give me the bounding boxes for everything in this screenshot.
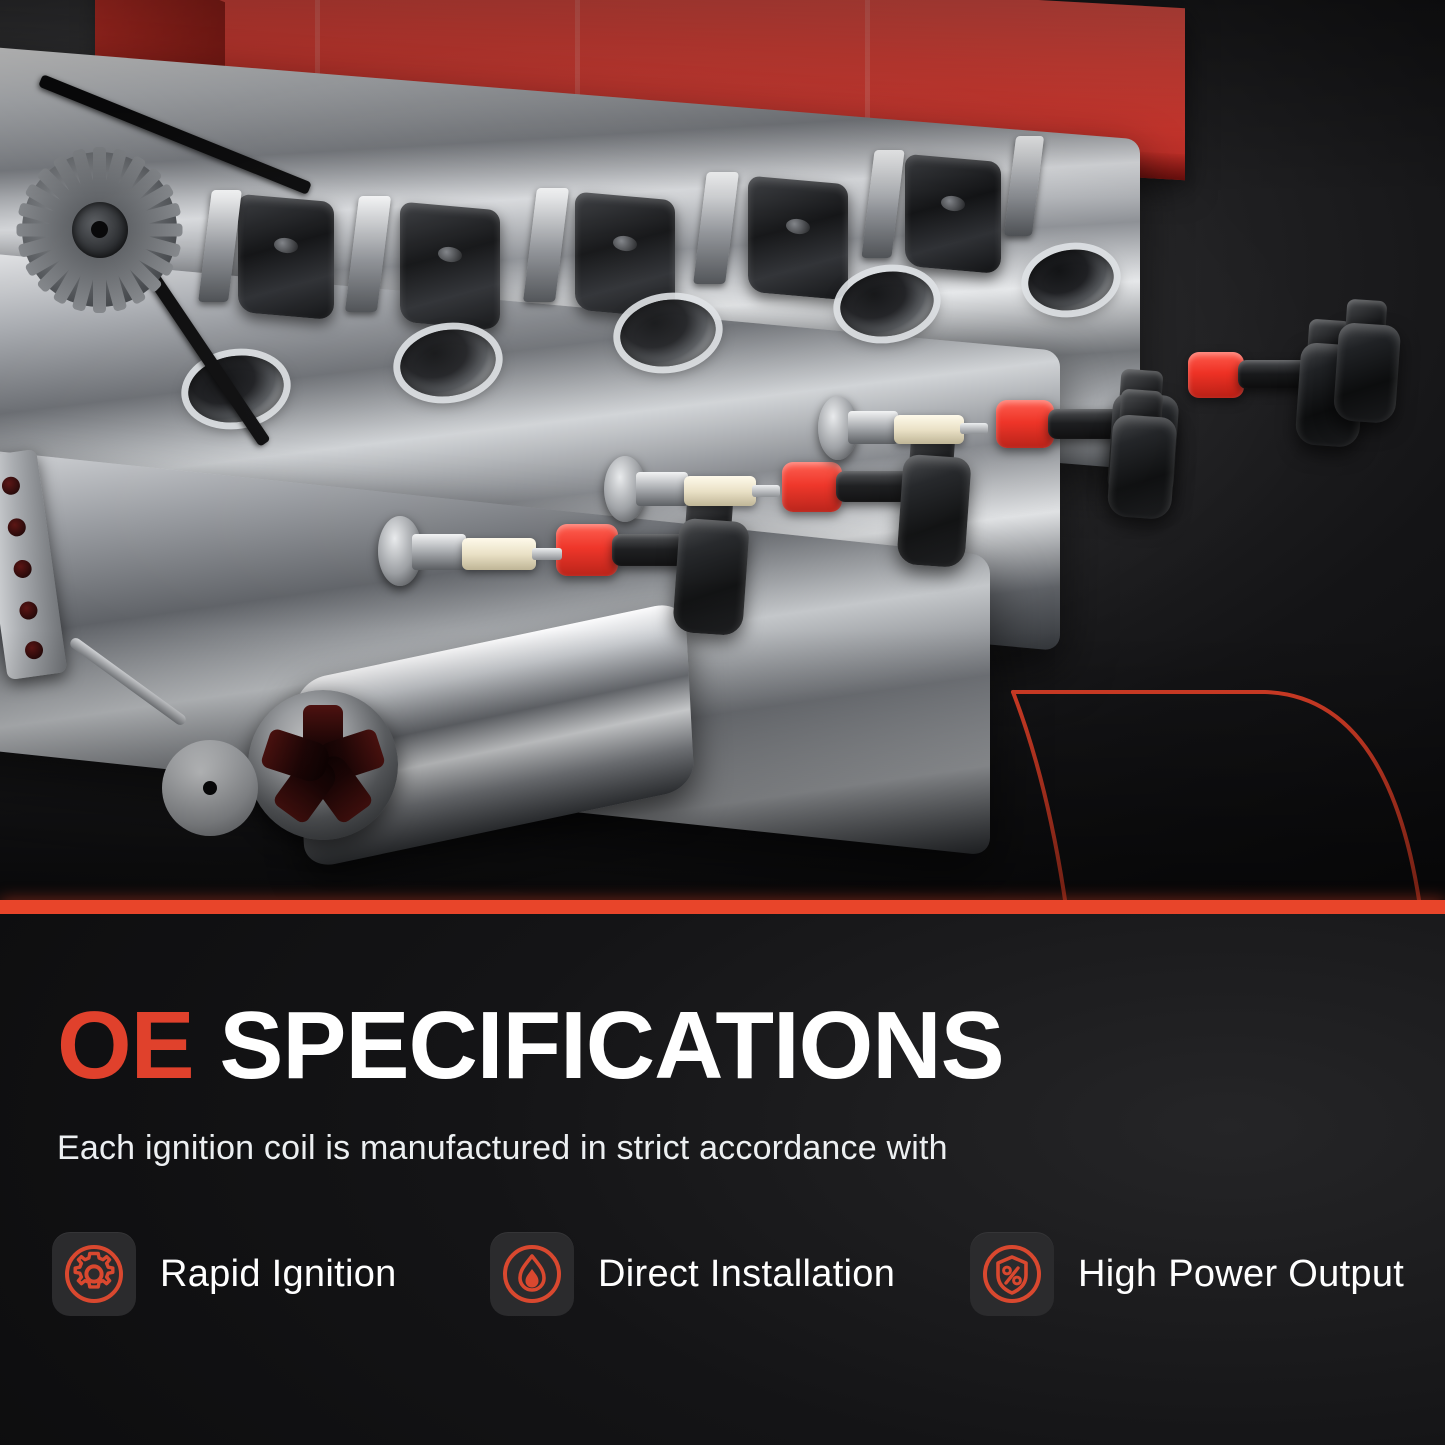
feature-icon-tile [52,1232,136,1316]
feature-item-high-power-output: High Power Output [970,1232,1390,1316]
gear-icon [63,1243,125,1305]
feature-icon-tile [490,1232,574,1316]
shield-percent-icon [981,1243,1043,1305]
page-title: OE SPECIFICATIONS [57,998,1004,1094]
engine-product-photo [0,0,1445,900]
subtitle: Each ignition coil is manufactured in st… [57,1128,948,1169]
flame-icon [501,1243,563,1305]
feature-label: Direct Installation [598,1253,895,1296]
feature-label: High Power Output [1078,1253,1404,1296]
headline-rest: SPECIFICATIONS [194,992,1004,1099]
feature-item-direct-installation: Direct Installation [490,1232,970,1316]
headline-accent: OE [57,992,194,1099]
feature-icon-tile [970,1232,1054,1316]
product-marketing-image: OE SPECIFICATIONS Each ignition coil is … [0,0,1445,1445]
feature-item-rapid-ignition: Rapid Ignition [52,1232,490,1316]
feature-label: Rapid Ignition [160,1253,397,1296]
specifications-panel: OE SPECIFICATIONS Each ignition coil is … [0,914,1445,1445]
feature-list: Rapid Ignition Direct Installation [52,1232,1397,1316]
accent-divider [0,900,1445,914]
hero-vignette [0,0,1445,900]
